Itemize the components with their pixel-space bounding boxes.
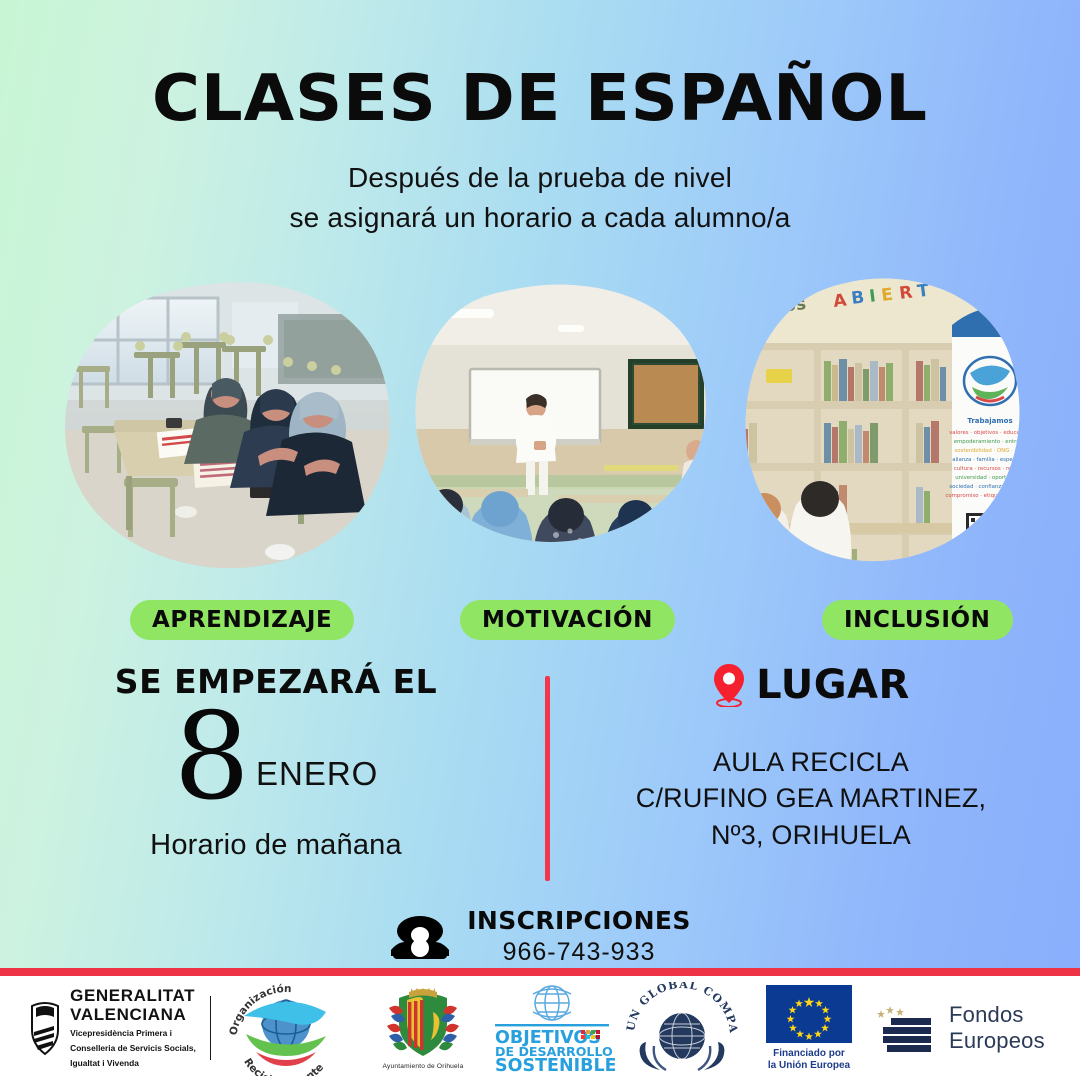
logo-recicla-alicante: Organización Recicla-Alicante (211, 976, 361, 1080)
recicla-globe-icon: Organización Recicla-Alicante (222, 980, 350, 1076)
start-label: SE EMPEZARÁ EL (36, 662, 516, 701)
orihuela-crest-wrap: Ayuntamiento de Orihuela (364, 978, 482, 1078)
place-block: LUGAR AULA RECICLA C/RUFINO GEA MARTINEZ… (576, 662, 1046, 853)
schedule-text: Horario de mañana (36, 829, 516, 862)
photo-teacher-lecture (408, 283, 708, 563)
generalitat-shield-icon (28, 1000, 62, 1056)
generalitat-sub-line3: Igualtat i Vivenda (70, 1058, 196, 1069)
photo-classroom-study (62, 280, 392, 570)
street-name: C/RUFINO GEA MARTINEZ, (576, 780, 1046, 816)
badge-aprendizaje: APRENDIZAJE (130, 600, 354, 640)
logo-eu-funding: Financiado por la Unión Europea (745, 976, 873, 1080)
eu-caption: Financiado por la Unión Europea (768, 1048, 850, 1072)
contact-text: INSCRIPCIONES 966-743-933 (467, 906, 691, 967)
generalitat-sub-line2: Conselleria de Servicis Socials, (70, 1043, 196, 1054)
generalitat-name-line2: VALENCIANA (70, 1006, 196, 1024)
place-label: LUGAR (756, 662, 910, 708)
svg-text:B: B (850, 288, 865, 309)
subtitle-line-1: Después de la prueba de nivel (0, 158, 1080, 198)
ods-un-icon: OBJETIVOS DE DESARROLLO SOSTENIBLE (489, 982, 615, 1074)
badge-row: APRENDIZAJE MOTIVACIÓN INCLUSIÓN (0, 600, 1080, 644)
eu-flag-icon (766, 985, 852, 1043)
day-number: 8 (174, 703, 250, 813)
fondos-europeos-label: Fondos Europeos (949, 1002, 1070, 1054)
generalitat-sub-line1: Vicepresidència Primera i (70, 1028, 196, 1039)
logo-generalitat-valenciana: GENERALITAT VALENCIANA Vicepresidència P… (0, 976, 210, 1080)
orihuela-crest-icon (381, 986, 465, 1062)
subtitle-line-2: se asignará un horario a cada alumno/a (0, 198, 1080, 238)
footer-logos: GENERALITAT VALENCIANA Vicepresidència P… (0, 976, 1080, 1080)
eu-caption-line1: Financiado por (773, 1048, 845, 1059)
date-row: 8 ENERO (36, 703, 516, 813)
svg-text:E: E (880, 285, 894, 306)
svg-text:universidad · oportunidad: universidad · oportunidad (955, 475, 1024, 481)
eu-wrap: Financiado por la Unión Europea (748, 980, 870, 1076)
svg-text:R: R (898, 283, 913, 304)
generalitat-name-line1: GENERALITAT (70, 987, 196, 1005)
svg-text:Trabajamos: Trabajamos (967, 417, 1012, 425)
photo-library-workshop: os ojos A B I E R T (726, 277, 1026, 567)
logo-fondos-europeos: Fondos Europeos (873, 976, 1080, 1080)
telephone-icon (389, 914, 451, 960)
un-global-compact-icon: UN GLOBAL COMPACT (624, 982, 740, 1074)
svg-text:alianza · familia · esperanza: alianza · familia · esperanza (952, 457, 1026, 463)
badge-motivacion: MOTIVACIÓN (460, 600, 675, 640)
svg-text:Recicla-Alicante: Recicla-Alicante (241, 1056, 326, 1076)
city-name: Nº3, ORIHUELA (576, 817, 1046, 853)
svg-text:sostenibilidad · ONG · país: sostenibilidad · ONG · país (954, 447, 1025, 454)
ods-line3: SOSTENIBLE (495, 1056, 615, 1074)
eu-caption-line2: la Unión Europea (768, 1060, 850, 1071)
vertical-divider (545, 676, 550, 881)
logo-un-global-compact: UN GLOBAL COMPACT (619, 976, 745, 1080)
location-pin-icon (712, 663, 746, 707)
logo-ayuntamiento-orihuela: Ayuntamiento de Orihuela (361, 976, 485, 1080)
photo-gallery: os ojos A B I E R T (0, 275, 1080, 580)
footer-accent-bar (0, 968, 1080, 976)
fondos-europeos-icon (873, 1002, 939, 1054)
place-heading: LUGAR (576, 662, 1046, 708)
badge-inclusion: INCLUSIÓN (822, 600, 1013, 640)
svg-text:valores · objetivos · educació: valores · objetivos · educación (949, 429, 1026, 436)
date-block: SE EMPEZARÁ EL 8 ENERO Horario de mañana (36, 662, 516, 862)
logo-ods: OBJETIVOS DE DESARROLLO SOSTENIBLE (485, 976, 619, 1080)
svg-text:compromiso · etiqueta · iguald: compromiso · etiqueta · igualdad (945, 493, 1026, 499)
svg-text:sociedad · confianza · entrega: sociedad · confianza · entrega (949, 484, 1026, 490)
svg-text:T: T (916, 281, 930, 302)
phone-number[interactable]: 966-743-933 (467, 938, 691, 967)
svg-text:cultura · recursos · respeto: cultura · recursos · respeto (954, 466, 1026, 472)
month-name: ENERO (256, 755, 378, 813)
page-title: CLASES DE ESPAÑOL (0, 62, 1080, 136)
orihuela-caption: Ayuntamiento de Orihuela (383, 1063, 464, 1070)
venue-name: AULA RECICLA (576, 744, 1046, 780)
contact-block: INSCRIPCIONES 966-743-933 (0, 906, 1080, 967)
address: AULA RECICLA C/RUFINO GEA MARTINEZ, Nº3,… (576, 744, 1046, 853)
svg-text:empoderamiento · entrega: empoderamiento · entrega (954, 439, 1026, 445)
generalitat-text: GENERALITAT VALENCIANA Vicepresidència P… (70, 987, 196, 1068)
registration-label: INSCRIPCIONES (467, 906, 691, 935)
poster-root: CLASES DE ESPAÑOL Después de la prueba d… (0, 0, 1080, 1080)
subtitle: Después de la prueba de nivel se asignar… (0, 158, 1080, 238)
